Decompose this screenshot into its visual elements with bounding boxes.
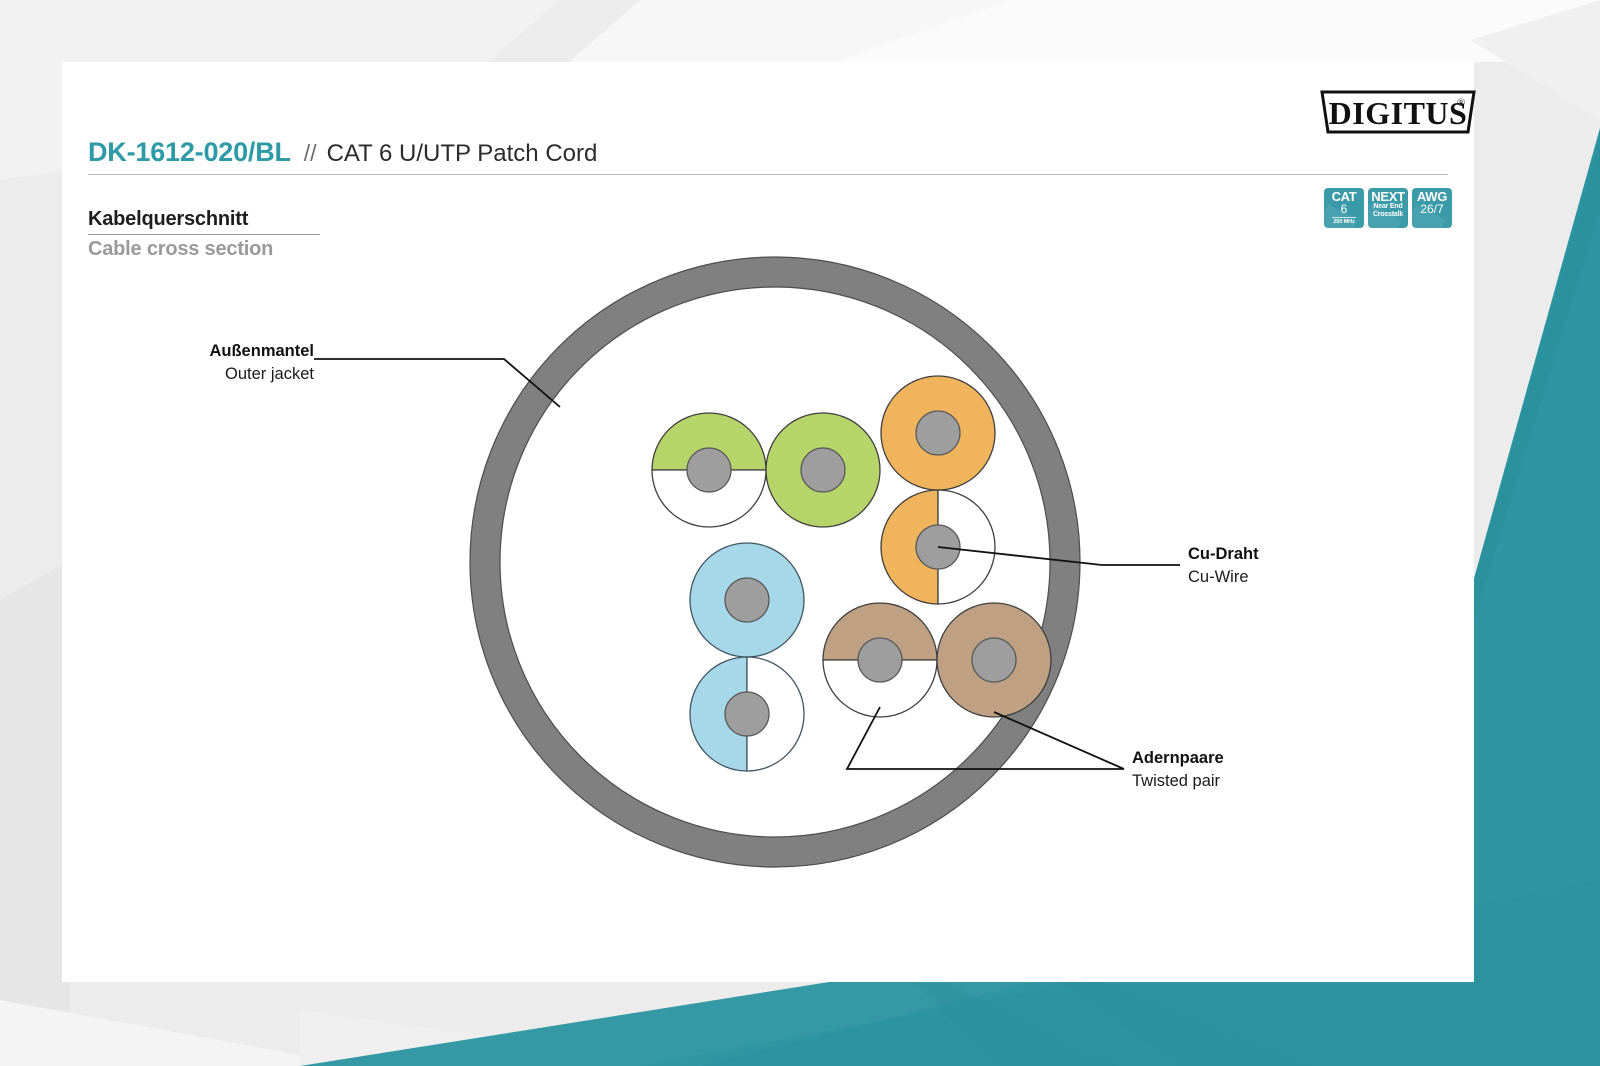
- cu-core: [725, 692, 769, 736]
- brown-solid-wire: [937, 603, 1051, 717]
- brown-pair: [823, 603, 1051, 717]
- green-solid-wire: [766, 413, 880, 527]
- callout-outer-jacket-de: Außenmantel: [209, 342, 314, 360]
- cu-core: [801, 448, 845, 492]
- blue-pair: [690, 543, 804, 771]
- callout-twisted-pair-en: Twisted pair: [1132, 772, 1221, 790]
- green-pair: [652, 413, 880, 527]
- cable-cross-section-diagram: Außenmantel Outer jacket Cu-Draht Cu-Wir…: [62, 62, 1474, 982]
- brown-striped-wire: [823, 603, 937, 717]
- cu-core: [972, 638, 1016, 682]
- cu-core: [725, 578, 769, 622]
- callout-outer-jacket: Außenmantel Outer jacket: [209, 342, 560, 407]
- green-striped-wire: [652, 413, 766, 527]
- orange-solid-wire: [881, 376, 995, 490]
- blue-striped-wire: [690, 657, 804, 771]
- blue-solid-wire: [690, 543, 804, 657]
- cu-core: [858, 638, 902, 682]
- callout-twisted-pair-de: Adernpaare: [1132, 749, 1224, 767]
- page-background: DIGITUS ® DK-1612-020/BL // CAT 6 U/UTP …: [0, 0, 1600, 1066]
- callout-cu-wire-en: Cu-Wire: [1188, 568, 1249, 586]
- cu-core: [916, 411, 960, 455]
- callout-cu-wire-de: Cu-Draht: [1188, 545, 1259, 563]
- orange-pair: [881, 376, 995, 604]
- callout-outer-jacket-en: Outer jacket: [225, 365, 314, 383]
- content-card: DIGITUS ® DK-1612-020/BL // CAT 6 U/UTP …: [62, 62, 1474, 982]
- cu-core: [687, 448, 731, 492]
